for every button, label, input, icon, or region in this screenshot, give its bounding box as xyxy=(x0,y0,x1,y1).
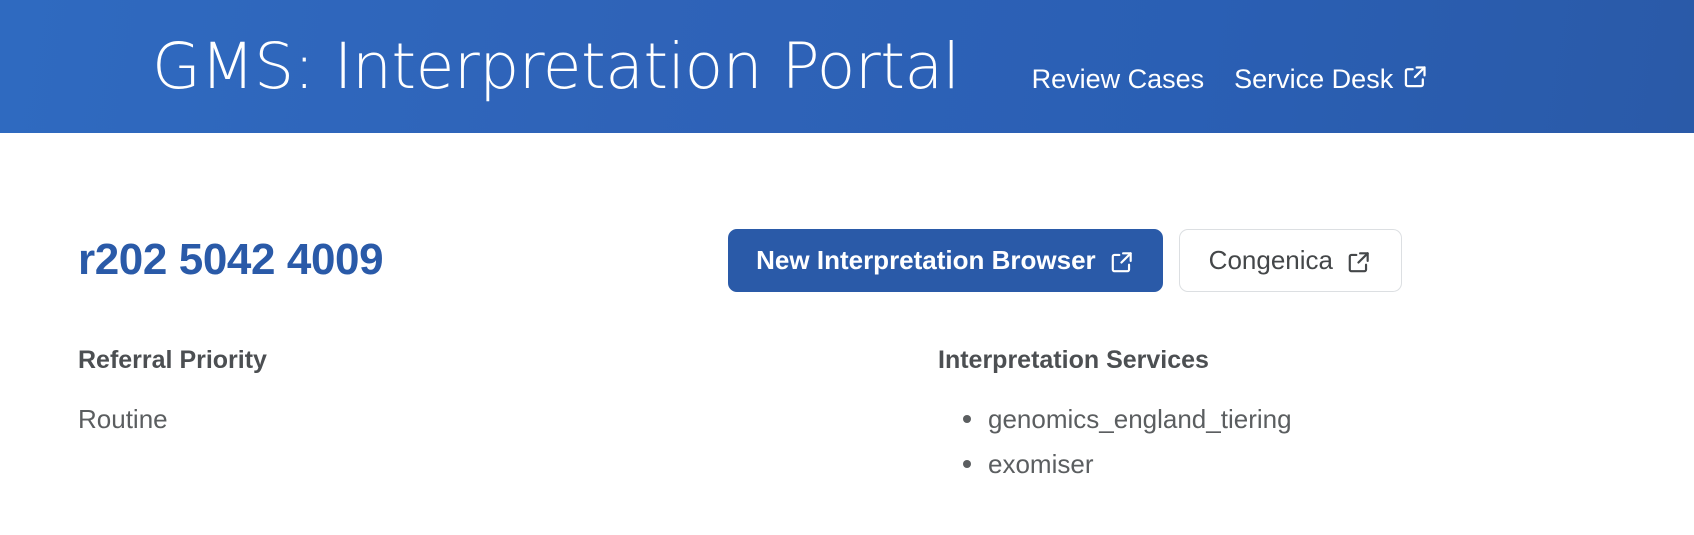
nav-link-label: Service Desk xyxy=(1234,64,1393,95)
referral-priority-label: Referral Priority xyxy=(78,348,938,373)
list-item: exomiser xyxy=(988,441,1694,486)
page-title: GMS: Interpretation Portal xyxy=(152,35,960,98)
nav-link-review-cases[interactable]: Review Cases xyxy=(1032,64,1205,95)
external-link-icon xyxy=(1402,63,1429,90)
header-nav: Review Cases Service Desk xyxy=(1032,61,1430,95)
list-item: genomics_england_tiering xyxy=(988,396,1694,441)
button-label: New Interpretation Browser xyxy=(756,245,1096,276)
button-label: Congenica xyxy=(1209,245,1333,276)
new-interpretation-browser-button[interactable]: New Interpretation Browser xyxy=(728,229,1163,292)
interpretation-services-label: Interpretation Services xyxy=(938,348,1694,373)
nav-link-label: Review Cases xyxy=(1032,64,1205,95)
case-title-row: r202 5042 4009 New Interpretation Browse… xyxy=(78,229,1694,291)
referral-priority-field: Referral Priority Routine xyxy=(78,348,938,486)
external-link-icon xyxy=(1109,249,1135,275)
interpretation-services-list: genomics_england_tiering exomiser xyxy=(938,396,1694,486)
referral-priority-value: Routine xyxy=(78,406,938,432)
action-buttons: New Interpretation Browser Congenica xyxy=(728,229,1402,292)
interpretation-services-field: Interpretation Services genomics_england… xyxy=(938,348,1694,486)
congenica-button[interactable]: Congenica xyxy=(1179,229,1402,292)
case-details-grid: Referral Priority Routine Interpretation… xyxy=(78,348,1694,486)
nav-link-service-desk[interactable]: Service Desk xyxy=(1234,61,1429,95)
header-inner: GMS: Interpretation Portal Review Cases … xyxy=(0,0,1694,140)
app-header: GMS: Interpretation Portal Review Cases … xyxy=(0,0,1694,133)
main-content: r202 5042 4009 New Interpretation Browse… xyxy=(0,229,1694,486)
case-id-heading: r202 5042 4009 xyxy=(78,238,383,282)
external-link-icon xyxy=(1346,249,1372,275)
